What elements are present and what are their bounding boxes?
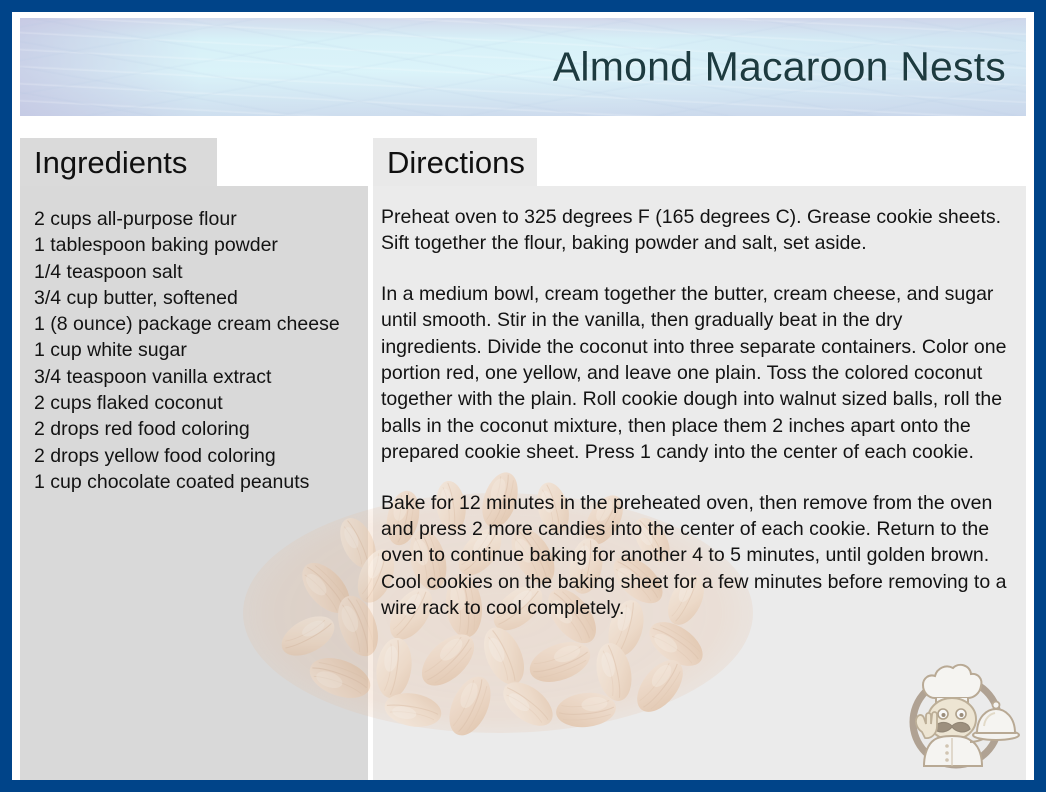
ingredient-item: 1 (8 ounce) package cream cheese — [34, 311, 356, 337]
directions-text: Preheat oven to 325 degrees F (165 degre… — [381, 204, 1008, 622]
directions-heading-label: Directions — [387, 147, 525, 178]
ingredients-list: 2 cups all-purpose flour1 tablespoon bak… — [34, 206, 356, 495]
chef-hat — [923, 665, 981, 698]
directions-heading-tab: Directions — [373, 138, 537, 186]
ingredient-item: 2 cups flaked coconut — [34, 390, 356, 416]
ingredient-item: 1 cup chocolate coated peanuts — [34, 469, 356, 495]
ingredients-heading-tab: Ingredients — [20, 138, 217, 186]
ingredient-item: 2 drops yellow food coloring — [34, 443, 356, 469]
chef-logo — [898, 654, 1020, 772]
ingredient-item: 3/4 cup butter, softened — [34, 285, 356, 311]
ingredients-heading-label: Ingredients — [34, 147, 187, 178]
ingredient-item: 1/4 teaspoon salt — [34, 259, 356, 285]
chef-coat — [924, 736, 982, 766]
cloche-dome — [977, 709, 1015, 733]
ingredient-item: 3/4 teaspoon vanilla extract — [34, 364, 356, 390]
ingredients-panel: 2 cups all-purpose flour1 tablespoon bak… — [20, 186, 368, 780]
page-title: Almond Macaroon Nests — [553, 44, 1006, 91]
direction-paragraph: Bake for 12 minutes in the preheated ove… — [381, 490, 1008, 622]
recipe-card: Almond Macaroon Nests Ingredients Direct… — [0, 0, 1046, 792]
ingredient-item: 2 cups all-purpose flour — [34, 206, 356, 232]
direction-paragraph: In a medium bowl, cream together the but… — [381, 281, 1008, 466]
ingredient-item: 2 drops red food coloring — [34, 416, 356, 442]
title-banner: Almond Macaroon Nests — [20, 18, 1026, 116]
ingredient-item: 1 tablespoon baking powder — [34, 232, 356, 258]
direction-paragraph: Preheat oven to 325 degrees F (165 degre… — [381, 204, 1008, 257]
ingredient-item: 1 cup white sugar — [34, 337, 356, 363]
card-inner: Almond Macaroon Nests Ingredients Direct… — [12, 12, 1034, 780]
chef-hand — [916, 712, 937, 738]
